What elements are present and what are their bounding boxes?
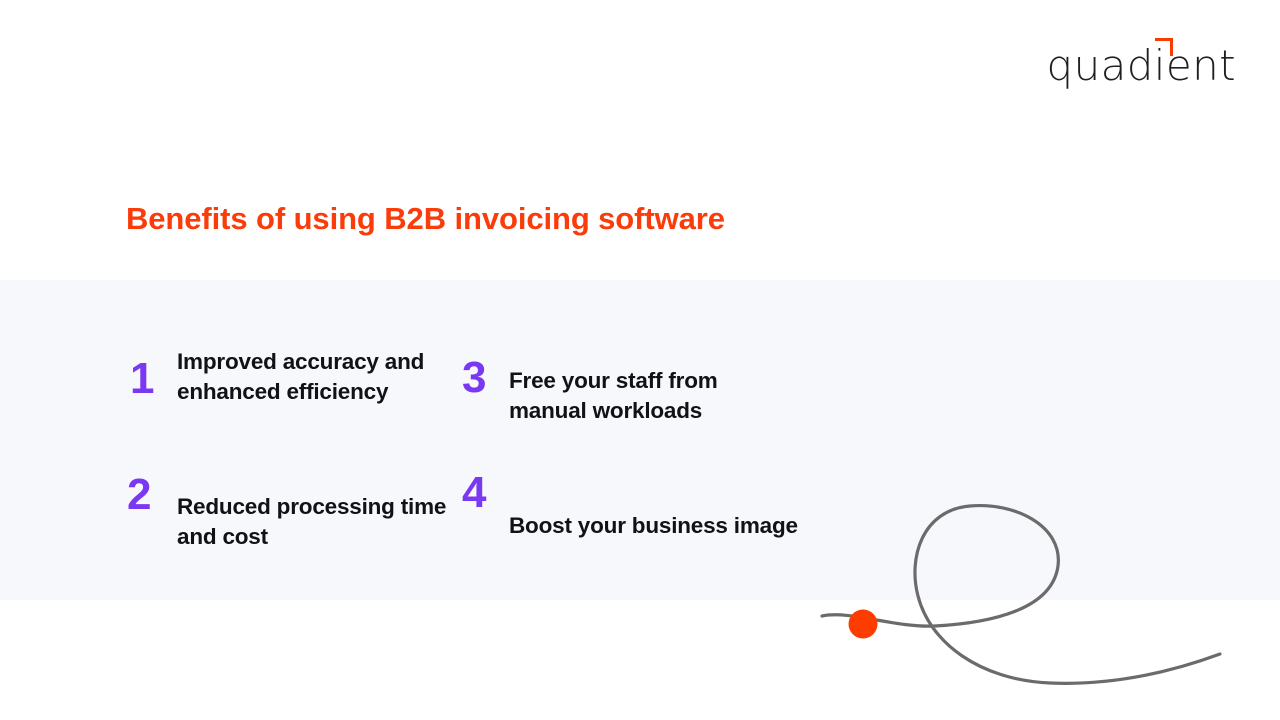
orange-dot-marker-icon	[849, 610, 878, 639]
benefit-label-1: Improved accuracy and enhanced efficienc…	[177, 347, 457, 407]
benefit-number-1: 1	[130, 357, 153, 401]
benefit-label-2: Reduced processing time and cost	[177, 492, 467, 552]
benefit-number-2: 2	[127, 473, 150, 517]
content-band	[0, 280, 1280, 600]
benefit-number-4: 4	[462, 471, 485, 515]
quadient-logo: quadient	[1047, 42, 1236, 90]
quadient-accent-mark-icon	[1155, 38, 1173, 56]
benefit-label-4: Boost your business image	[509, 511, 899, 541]
brand-wordmark-text: quadient	[1047, 45, 1236, 87]
benefit-number-3: 3	[462, 356, 485, 400]
page-title: Benefits of using B2B invoicing software	[126, 199, 725, 239]
benefit-label-3: Free your staff from manual workloads	[509, 366, 799, 426]
slide-canvas: quadient Benefits of using B2B invoicing…	[0, 0, 1280, 720]
